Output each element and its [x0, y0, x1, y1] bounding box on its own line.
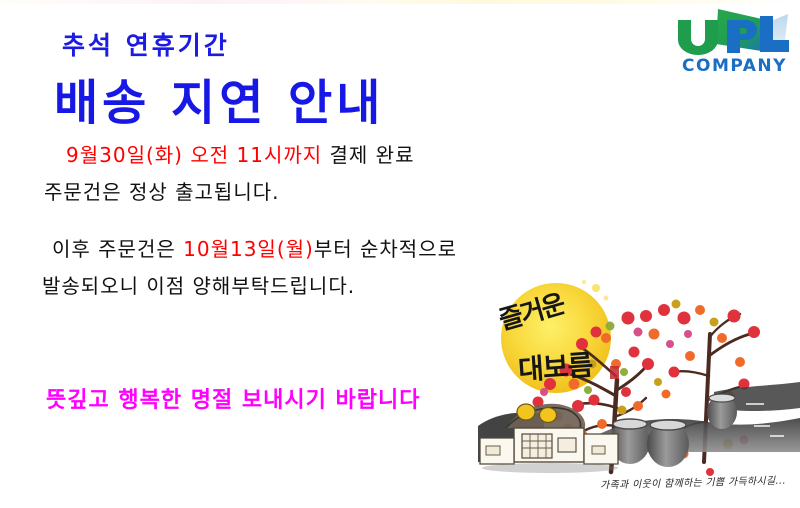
- upl-wordmark-icon: [672, 8, 792, 58]
- upl-company-logo[interactable]: COMPANY: [672, 8, 792, 82]
- holiday-wish-text: 뜻깊고 행복한 명절 보내시기 바랍니다: [46, 382, 420, 414]
- page-title: 배송 지연 안내: [54, 63, 384, 133]
- notice-line-1: 9월30일(화) 오전 11시까지 결제 완료: [66, 139, 414, 168]
- notice-line-3: 이후 주문건은 10월13일(월)부터 순차적으로: [52, 233, 457, 262]
- notice-line-2: 주문건은 정상 출고됩니다.: [44, 176, 279, 205]
- deadline-date-highlight: 9월30일(화) 오전 11시까지: [66, 143, 322, 167]
- delivery-delay-notice-poster: 추석 연휴기간 배송 지연 안내 9월30일(화) 오전 11시까지 결제 완료…: [0, 0, 800, 508]
- notice-line-3-tail: 부터 순차적으로: [314, 237, 457, 261]
- page-kicker: 추석 연휴기간: [62, 26, 230, 62]
- resume-date-highlight: 10월13일(월): [183, 237, 314, 261]
- chuseok-illustration: 즐거운 대보름 가족과 이웃이 함께하는 기쁨 가득하시길...: [478, 276, 800, 508]
- notice-line-4: 발송되오니 이점 양해부탁드립니다.: [42, 270, 355, 299]
- notice-line-3-head: 이후 주문건은: [52, 237, 183, 261]
- top-scan-band: [0, 0, 800, 4]
- thatched-house: [480, 404, 618, 473]
- notice-line-1-tail: 결제 완료: [322, 143, 414, 167]
- logo-company-text: COMPANY: [677, 56, 792, 76]
